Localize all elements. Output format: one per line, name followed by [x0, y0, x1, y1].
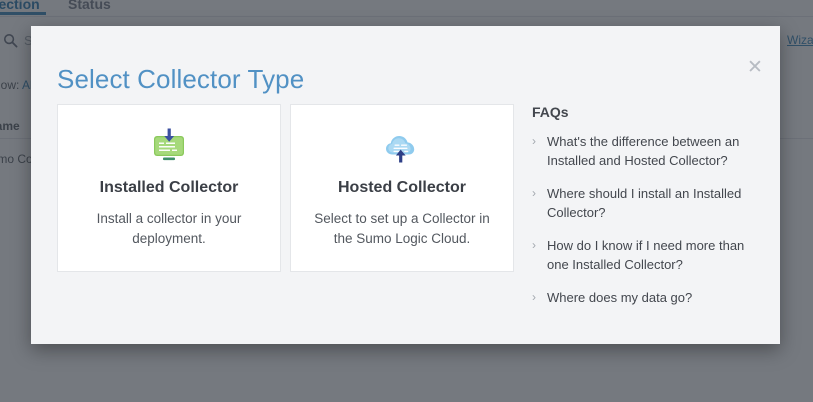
- page-root: Collection Status Search Wizard Show: Al…: [0, 0, 813, 402]
- page-title: Select Collector Type: [57, 64, 304, 95]
- hosted-collector-description: Select to set up a Collector in the Sumo…: [309, 209, 495, 249]
- faq-heading: FAQs: [532, 104, 748, 120]
- hosted-collector-icon: [291, 126, 513, 170]
- faq-item-label: What's the difference between an Install…: [547, 133, 748, 170]
- faq-panel: FAQs › What's the difference between an …: [532, 104, 748, 323]
- chevron-right-icon: ›: [532, 132, 536, 151]
- chevron-right-icon: ›: [532, 288, 536, 307]
- hosted-collector-title: Hosted Collector: [291, 179, 513, 197]
- faq-item-label: Where should I install an Installed Coll…: [547, 185, 748, 222]
- chevron-right-icon: ›: [532, 184, 536, 203]
- close-icon[interactable]: ✕: [744, 57, 766, 79]
- installed-collector-title: Installed Collector: [58, 179, 280, 197]
- installed-collector-description: Install a collector in your deployment.: [76, 209, 262, 249]
- faq-item-3[interactable]: › Where does my data go?: [532, 289, 748, 308]
- faq-item-0[interactable]: › What's the difference between an Insta…: [532, 133, 748, 170]
- installed-collector-icon: [58, 126, 280, 170]
- select-collector-type-dialog: ✕ Select Collector Type: [31, 26, 780, 344]
- faq-item-label: Where does my data go?: [547, 289, 748, 308]
- faq-item-2[interactable]: › How do I know if I need more than one …: [532, 237, 748, 274]
- chevron-right-icon: ›: [532, 236, 536, 255]
- faq-item-1[interactable]: › Where should I install an Installed Co…: [532, 185, 748, 222]
- installed-collector-card[interactable]: Installed Collector Install a collector …: [57, 104, 281, 272]
- hosted-collector-card[interactable]: Hosted Collector Select to set up a Coll…: [290, 104, 514, 272]
- faq-item-label: How do I know if I need more than one In…: [547, 237, 748, 274]
